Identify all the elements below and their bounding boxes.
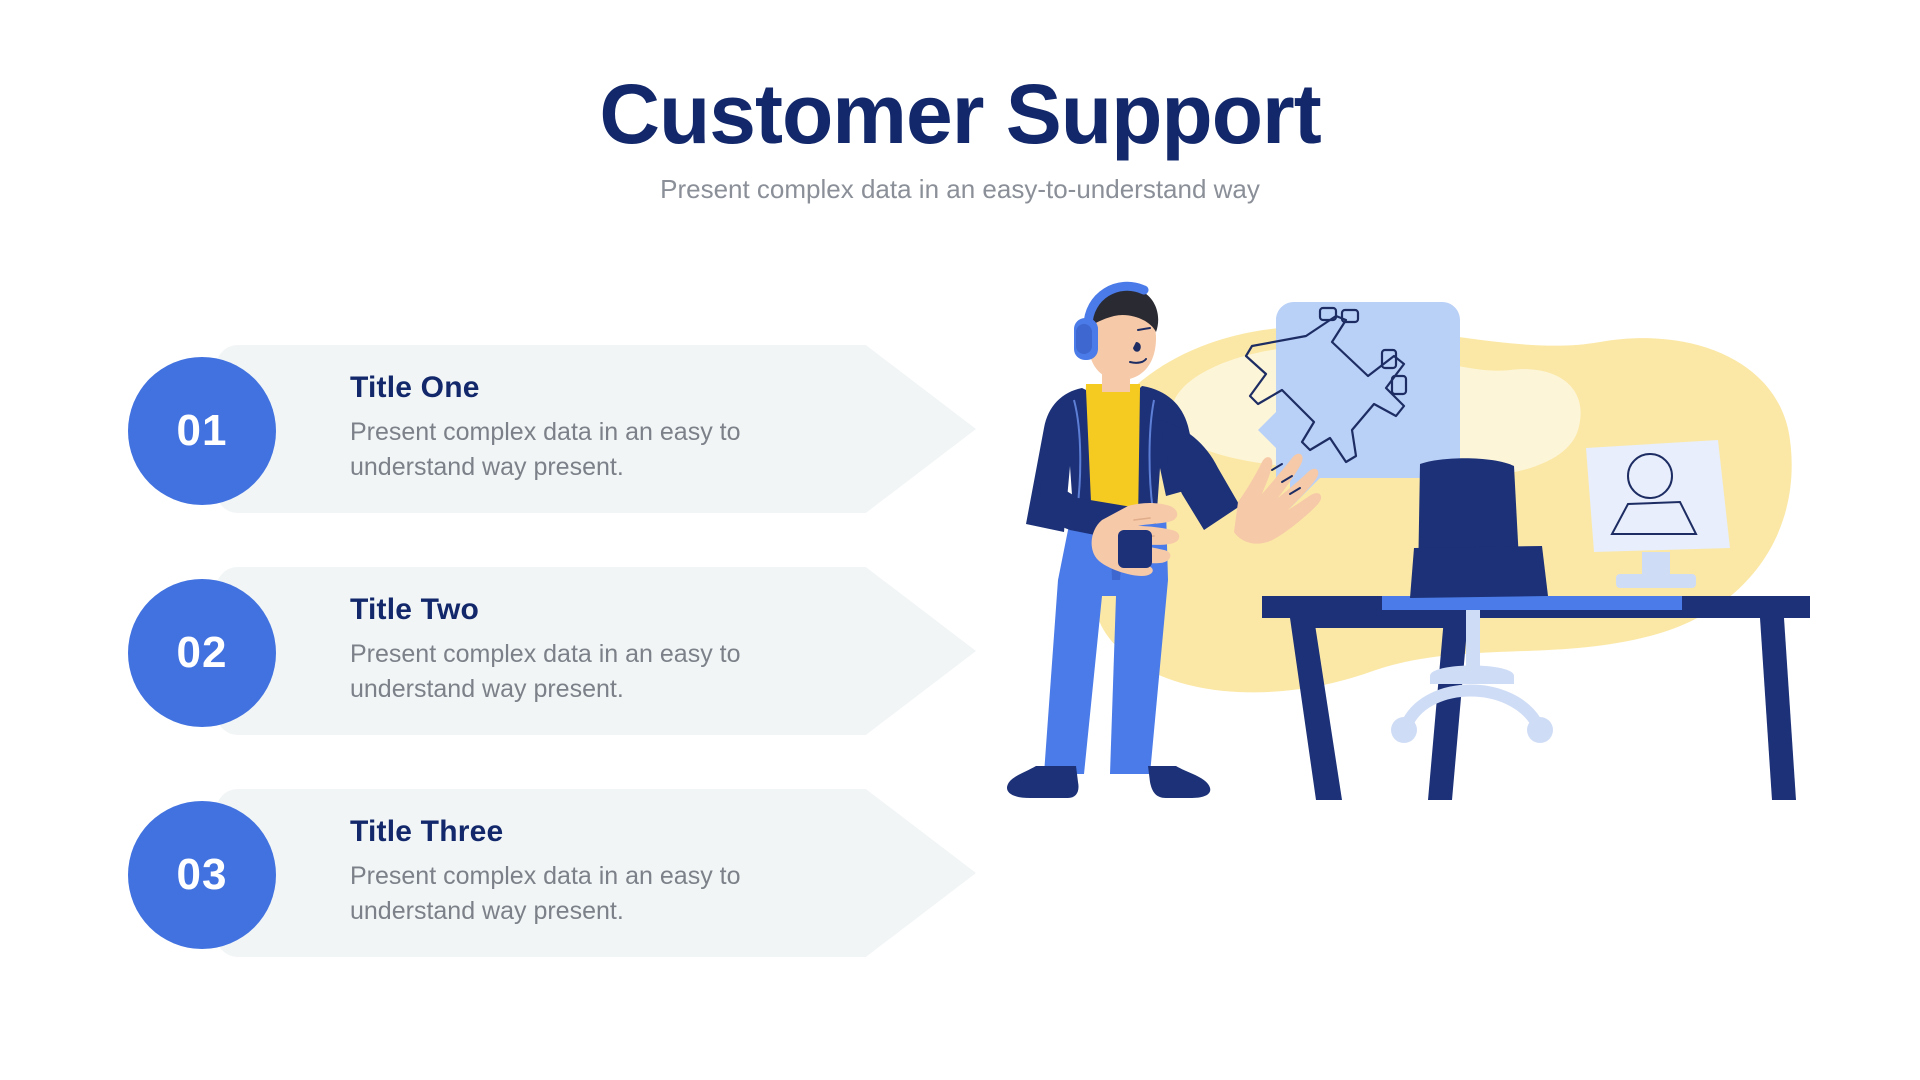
customer-support-illustration [990, 280, 1820, 800]
list-item-title: Title Three [350, 815, 870, 849]
list-item-copy: Title One Present complex data in an eas… [350, 371, 870, 484]
page-title: Customer Support [0, 70, 1920, 158]
list-item-description: Present complex data in an easy to under… [350, 415, 870, 484]
list-item-number: 02 [177, 628, 228, 678]
list-item-description: Present complex data in an easy to under… [350, 637, 870, 706]
list-item[interactable]: 02 Title Two Present complex data in an … [128, 567, 1008, 789]
list-item-title: Title Two [350, 593, 870, 627]
slide-root: Customer Support Present complex data in… [0, 0, 1920, 1080]
list-item-number-badge: 02 [128, 579, 276, 727]
list-item-number-badge: 01 [128, 357, 276, 505]
list-item-description: Present complex data in an easy to under… [350, 859, 870, 928]
list-item-copy: Title Two Present complex data in an eas… [350, 593, 870, 706]
page-subtitle: Present complex data in an easy-to-under… [0, 174, 1920, 205]
list-item-number: 01 [177, 406, 228, 456]
list-item[interactable]: 01 Title One Present complex data in an … [128, 345, 1008, 567]
list-item[interactable]: 03 Title Three Present complex data in a… [128, 789, 1008, 1011]
slide-header: Customer Support Present complex data in… [0, 70, 1920, 205]
list-item-number: 03 [177, 850, 228, 900]
list-item-copy: Title Three Present complex data in an e… [350, 815, 870, 928]
list-item-title: Title One [350, 371, 870, 405]
feature-list: 01 Title One Present complex data in an … [128, 345, 1008, 1011]
list-item-number-badge: 03 [128, 801, 276, 949]
